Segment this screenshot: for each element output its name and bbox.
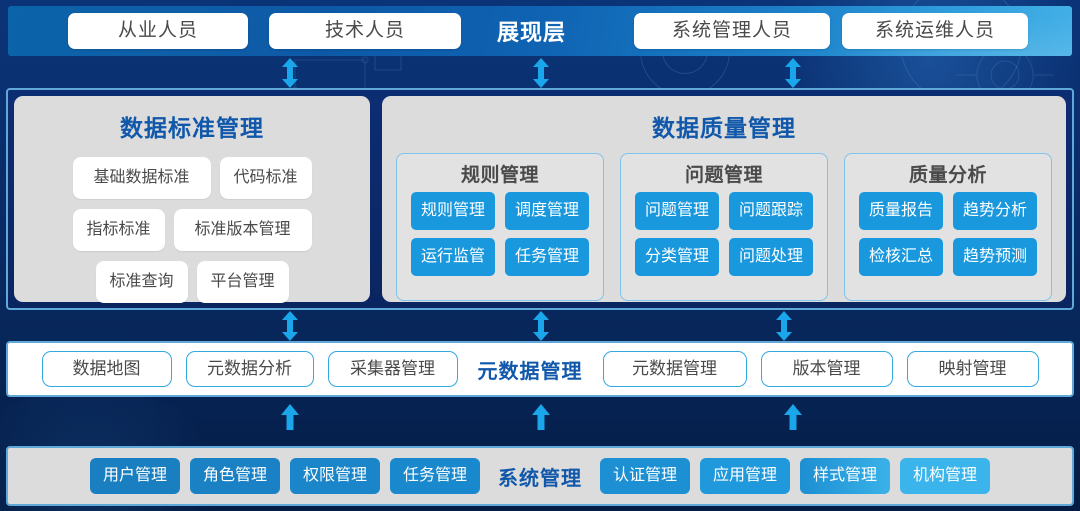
sys-button-authentication-management[interactable]: 认证管理	[600, 458, 690, 494]
button-rule-management[interactable]: 规则管理	[411, 192, 495, 230]
meta-pill-version-management[interactable]: 版本管理	[761, 351, 893, 387]
button-issue-tracking[interactable]: 问题跟踪	[729, 192, 813, 230]
subpanel-issue-management: 问题管理 问题管理 问题跟踪 分类管理 问题处理	[620, 153, 828, 301]
system-management-label: 系统管理	[490, 462, 590, 491]
issue-management-button-grid: 问题管理 问题跟踪 分类管理 问题处理	[621, 192, 827, 276]
meta-pill-mapping-management[interactable]: 映射管理	[907, 351, 1039, 387]
chip-standard-query[interactable]: 标准查询	[96, 261, 188, 303]
architecture-diagram-canvas: 从业人员 技术人员 展现层 系统管理人员 系统运维人员 数据标准管理 基础数据标…	[0, 0, 1080, 511]
system-management-bar: 用户管理 角色管理 权限管理 任务管理 系统管理 认证管理 应用管理 样式管理 …	[6, 446, 1074, 506]
quality-analysis-button-grid: 质量报告 趋势分析 检核汇总 趋势预测	[845, 192, 1051, 276]
role-pill-technician[interactable]: 技术人员	[269, 13, 461, 49]
data-standard-management-panel: 数据标准管理 基础数据标准 代码标准 指标标准 标准版本管理 标准查询 平台管理	[14, 96, 370, 302]
role-pill-system-ops[interactable]: 系统运维人员	[842, 13, 1028, 49]
subpanel-title-issue-management: 问题管理	[621, 160, 827, 187]
sys-button-application-management[interactable]: 应用管理	[700, 458, 790, 494]
panel-title-data-standard: 数据标准管理	[14, 96, 370, 143]
arrow-row-top	[0, 58, 1080, 88]
subpanel-quality-analysis: 质量分析 质量报告 趋势分析 检核汇总 趋势预测	[844, 153, 1052, 301]
up-arrow-icon	[530, 404, 552, 430]
bidirectional-arrow-icon	[782, 58, 804, 88]
bidirectional-arrow-icon	[530, 311, 552, 341]
arrow-row-bottom	[0, 404, 1080, 430]
arrow-row-mid	[0, 311, 1080, 341]
button-trend-forecast[interactable]: 趋势预测	[953, 238, 1037, 276]
data-quality-management-panel: 数据质量管理 规则管理 规则管理 调度管理 运行监管 任务管理 问题管理 问题管…	[382, 96, 1066, 302]
button-issue-management[interactable]: 问题管理	[635, 192, 719, 230]
button-quality-report[interactable]: 质量报告	[859, 192, 943, 230]
quality-subpanel-group: 规则管理 规则管理 调度管理 运行监管 任务管理 问题管理 问题管理 问题跟踪 …	[382, 143, 1066, 301]
role-pill-system-admin[interactable]: 系统管理人员	[634, 13, 830, 49]
button-classification-management[interactable]: 分类管理	[635, 238, 719, 276]
sys-button-role-management[interactable]: 角色管理	[190, 458, 280, 494]
bidirectional-arrow-icon	[773, 311, 795, 341]
up-arrow-icon	[782, 404, 804, 430]
meta-pill-data-map[interactable]: 数据地图	[42, 351, 172, 387]
presentation-layer-label: 展现层	[497, 15, 566, 47]
meta-pill-metadata-analysis[interactable]: 元数据分析	[186, 351, 314, 387]
button-schedule-management[interactable]: 调度管理	[505, 192, 589, 230]
sys-button-user-management[interactable]: 用户管理	[90, 458, 180, 494]
up-arrow-icon	[279, 404, 301, 430]
subpanel-title-quality-analysis: 质量分析	[845, 160, 1051, 187]
subpanel-rule-management: 规则管理 规则管理 调度管理 运行监管 任务管理	[396, 153, 604, 301]
sys-button-permission-management[interactable]: 权限管理	[290, 458, 380, 494]
metadata-management-bar: 数据地图 元数据分析 采集器管理 元数据管理 元数据管理 版本管理 映射管理	[6, 341, 1074, 397]
chip-indicator-standard[interactable]: 指标标准	[73, 209, 165, 251]
meta-pill-metadata-management[interactable]: 元数据管理	[603, 351, 747, 387]
bidirectional-arrow-icon	[279, 58, 301, 88]
role-pill-practitioner[interactable]: 从业人员	[68, 13, 248, 49]
rule-management-button-grid: 规则管理 调度管理 运行监管 任务管理	[397, 192, 603, 276]
button-issue-handling[interactable]: 问题处理	[729, 238, 813, 276]
subpanel-title-rule-management: 规则管理	[397, 160, 603, 187]
button-operation-supervision[interactable]: 运行监管	[411, 238, 495, 276]
sys-button-style-management[interactable]: 样式管理	[800, 458, 890, 494]
panel-title-data-quality: 数据质量管理	[382, 96, 1066, 143]
chip-standard-version-management[interactable]: 标准版本管理	[174, 209, 312, 251]
bidirectional-arrow-icon	[279, 311, 301, 341]
metadata-management-label: 元数据管理	[472, 355, 589, 384]
button-trend-analysis[interactable]: 趋势分析	[953, 192, 1037, 230]
data-standard-chip-grid: 基础数据标准 代码标准 指标标准 标准版本管理 标准查询 平台管理	[14, 143, 370, 303]
chip-code-standard[interactable]: 代码标准	[220, 157, 312, 199]
meta-pill-collector-management[interactable]: 采集器管理	[328, 351, 458, 387]
bidirectional-arrow-icon	[530, 58, 552, 88]
sys-button-organization-management[interactable]: 机构管理	[900, 458, 990, 494]
button-task-management[interactable]: 任务管理	[505, 238, 589, 276]
button-inspection-summary[interactable]: 检核汇总	[859, 238, 943, 276]
chip-basic-data-standard[interactable]: 基础数据标准	[73, 157, 211, 199]
chip-platform-management[interactable]: 平台管理	[197, 261, 289, 303]
sys-button-task-management[interactable]: 任务管理	[390, 458, 480, 494]
presentation-layer-bar: 从业人员 技术人员 展现层 系统管理人员 系统运维人员	[8, 6, 1072, 56]
